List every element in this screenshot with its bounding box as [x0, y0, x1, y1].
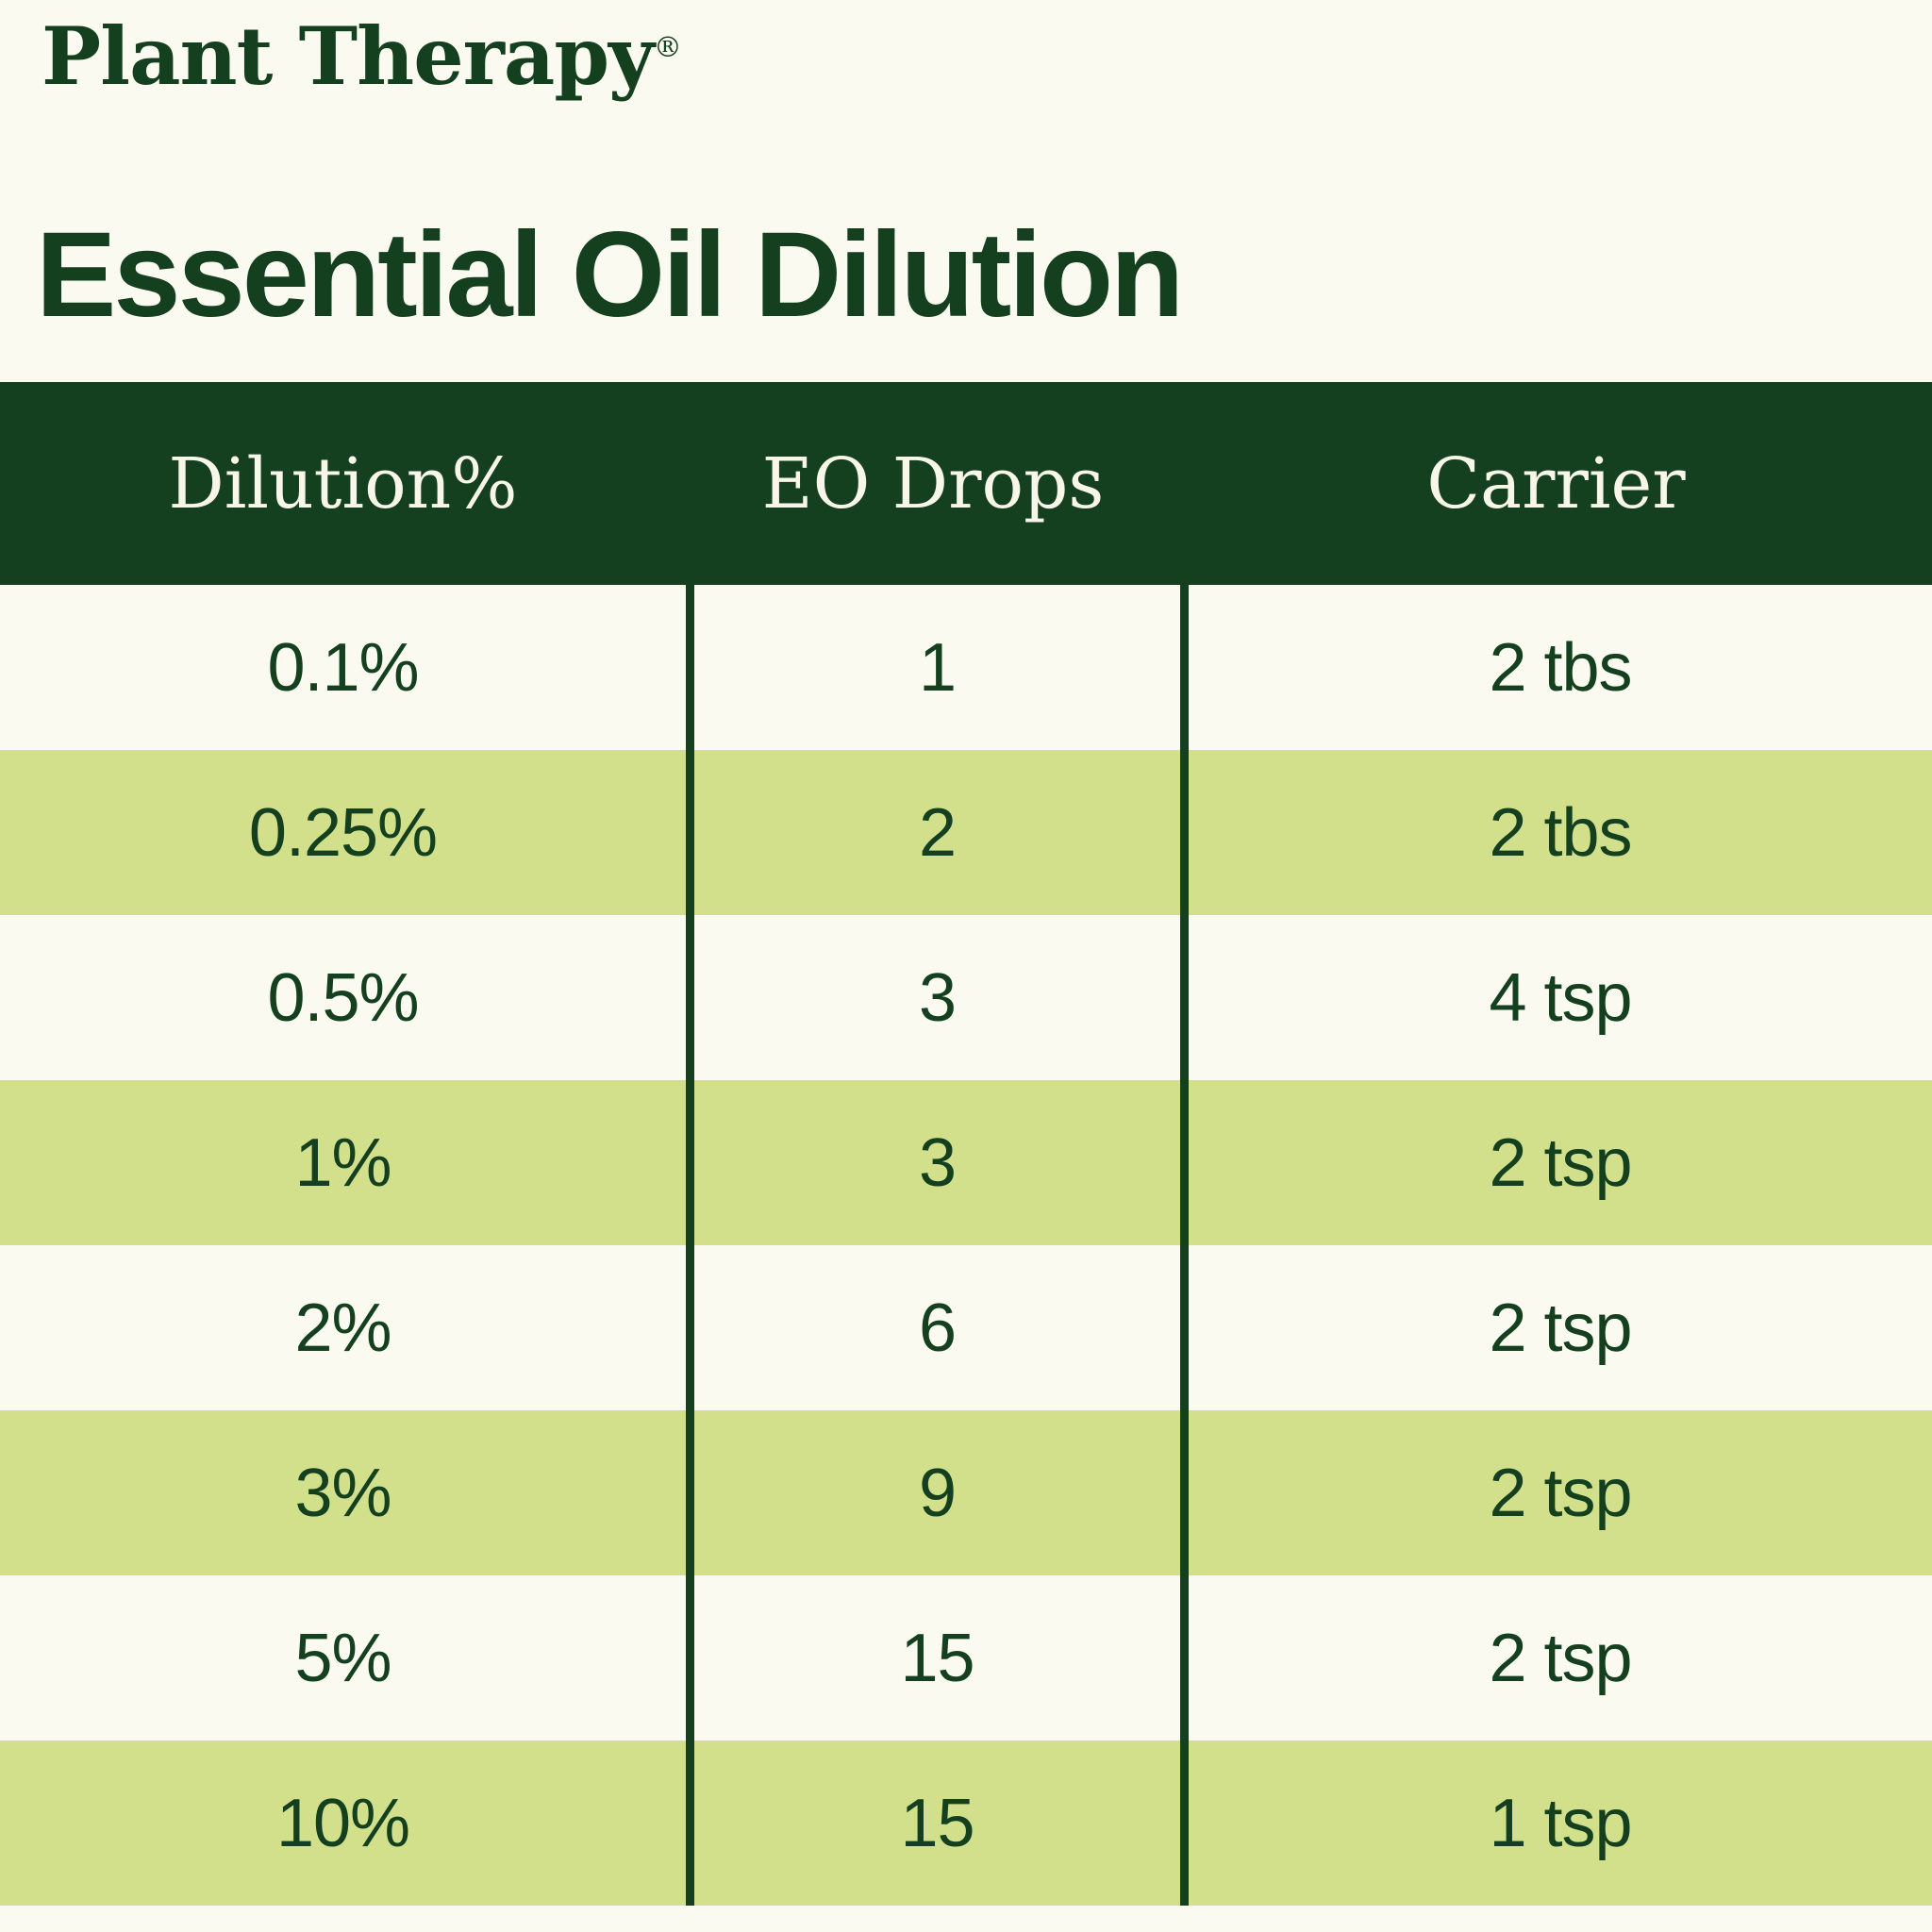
brand-logo: Plant Therapy® [42, 17, 682, 96]
table-row: 10%151 tsp [0, 1740, 1932, 1906]
brand-name: Plant Therapy [42, 9, 654, 103]
cell-eo-drops: 3 [686, 1080, 1180, 1245]
cell-eo-drops: 2 [686, 750, 1180, 915]
cell-eo-drops: 1 [686, 585, 1180, 750]
cell-eo-drops: 3 [686, 915, 1180, 1080]
table-body: 0.1%12 tbs0.25%22 tbs0.5%34 tsp1%32 tsp2… [0, 585, 1932, 1906]
dilution-chart-page: Plant Therapy® Essential Oil Dilution Di… [0, 0, 1932, 1932]
column-header-dilution: Dilution% [0, 382, 686, 585]
column-header-eo-drops: EO Drops [686, 382, 1180, 585]
dilution-table: Dilution% EO Drops Carrier 0.1%12 tbs0.2… [0, 382, 1932, 1906]
cell-carrier: 2 tsp [1180, 1080, 1932, 1245]
cell-dilution: 0.1% [0, 585, 686, 750]
page-title: Essential Oil Dilution [36, 215, 1181, 336]
table-row: 1%32 tsp [0, 1080, 1932, 1245]
column-header-carrier: Carrier [1180, 382, 1932, 585]
cell-dilution: 3% [0, 1410, 686, 1575]
cell-eo-drops: 15 [686, 1575, 1180, 1740]
cell-carrier: 2 tsp [1180, 1245, 1932, 1410]
table-row: 5%152 tsp [0, 1575, 1932, 1740]
cell-eo-drops: 6 [686, 1245, 1180, 1410]
cell-carrier: 2 tsp [1180, 1410, 1932, 1575]
cell-eo-drops: 15 [686, 1740, 1180, 1906]
registered-trademark-icon: ® [654, 31, 682, 64]
table-header-row: Dilution% EO Drops Carrier [0, 382, 1932, 585]
cell-carrier: 2 tbs [1180, 750, 1932, 915]
table-row: 0.5%34 tsp [0, 915, 1932, 1080]
cell-carrier: 2 tsp [1180, 1575, 1932, 1740]
cell-dilution: 10% [0, 1740, 686, 1906]
table-row: 2%62 tsp [0, 1245, 1932, 1410]
cell-carrier: 1 tsp [1180, 1740, 1932, 1906]
cell-carrier: 2 tbs [1180, 585, 1932, 750]
table-row: 0.1%12 tbs [0, 585, 1932, 750]
cell-dilution: 0.25% [0, 750, 686, 915]
cell-carrier: 4 tsp [1180, 915, 1932, 1080]
cell-dilution: 2% [0, 1245, 686, 1410]
cell-dilution: 5% [0, 1575, 686, 1740]
cell-dilution: 0.5% [0, 915, 686, 1080]
cell-eo-drops: 9 [686, 1410, 1180, 1575]
table-row: 0.25%22 tbs [0, 750, 1932, 915]
cell-dilution: 1% [0, 1080, 686, 1245]
table-row: 3%92 tsp [0, 1410, 1932, 1575]
